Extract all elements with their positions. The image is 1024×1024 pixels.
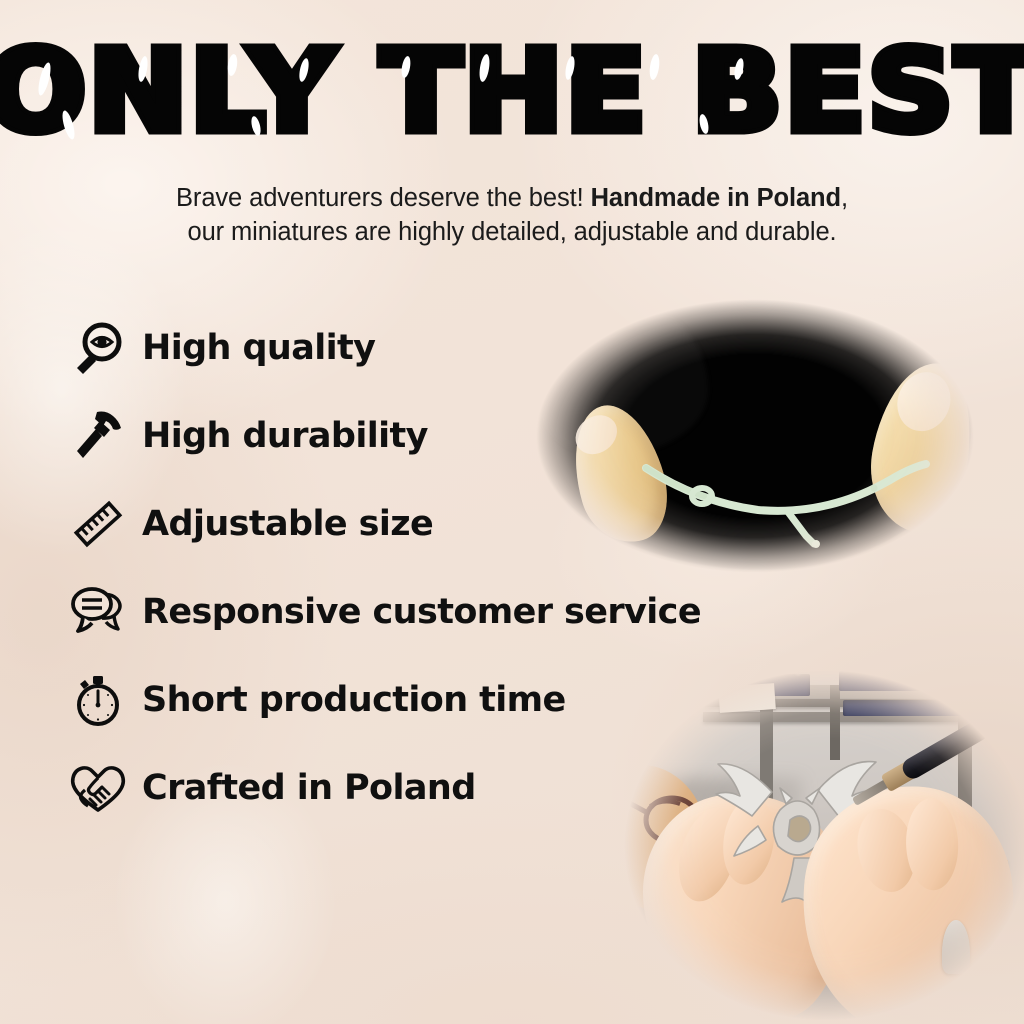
ruler-icon (62, 496, 134, 552)
flexible-miniature-part (638, 462, 938, 548)
subtitle-comma: , (841, 184, 848, 212)
feature-label: Short production time (142, 680, 566, 720)
feature-label: Crafted in Poland (142, 768, 476, 808)
handshake-heart-icon (62, 760, 134, 816)
subtitle: Brave adventurers deserve the best! Hand… (0, 182, 1024, 250)
feature-label: High durability (142, 416, 428, 456)
stopwatch-icon (62, 672, 134, 728)
workshop-hands-photo (612, 652, 1024, 1024)
magnifier-eye-icon (62, 320, 134, 376)
subtitle-line-2: our miniatures are highly detailed, adju… (187, 218, 836, 246)
subtitle-lead: Brave adventurers deserve the best! (176, 184, 591, 212)
flexing-miniature-photo (520, 276, 990, 596)
feature-label: Responsive customer service (142, 592, 701, 632)
subtitle-emphasis: Handmade in Poland (591, 184, 841, 212)
feature-label: High quality (142, 328, 375, 368)
stray-miniature (942, 920, 970, 974)
feature-label: Adjustable size (142, 504, 433, 544)
infographic-page: ONLY THE BEST Brave adventurers deserve … (0, 0, 1024, 1024)
finger (904, 797, 959, 891)
shelf-label-note (718, 684, 776, 714)
page-title: ONLY THE BEST (0, 36, 1024, 148)
miniature-tray (843, 700, 971, 716)
headline-container: ONLY THE BEST (0, 36, 1024, 148)
hammer-icon (62, 408, 134, 464)
miniatures-on-shelf (839, 656, 967, 676)
miniatures-on-shelf (719, 659, 818, 681)
speech-bubbles-icon (62, 584, 134, 640)
